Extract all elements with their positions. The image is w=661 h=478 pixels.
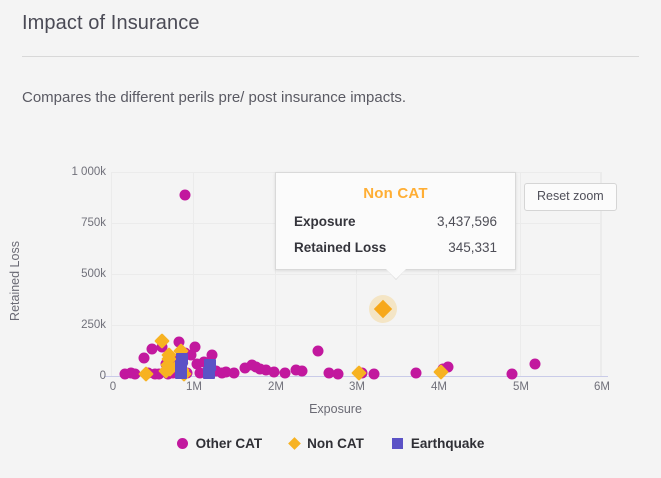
data-point-other-cat[interactable] xyxy=(179,190,190,201)
card-subtitle: Compares the different perils pre/ post … xyxy=(22,86,452,110)
x-axis-title-text: Exposure xyxy=(309,402,362,416)
chart-legend: Other CAT Non CAT Earthquake xyxy=(0,436,661,451)
point-tooltip: Non CAT Exposure 3,437,596 Retained Loss… xyxy=(275,172,516,270)
legend-label: Earthquake xyxy=(411,436,485,451)
x-tick-label: 1M xyxy=(186,381,202,393)
x-tick-label: 0 xyxy=(110,381,116,393)
diamond-marker-icon xyxy=(288,437,301,450)
y-axis-ticks: 1 000k 750k 500k 250k 0 xyxy=(30,150,106,410)
tooltip-title: Non CAT xyxy=(294,185,497,202)
tooltip-value: 3,437,596 xyxy=(437,214,497,229)
tooltip-row: Exposure 3,437,596 xyxy=(294,214,497,229)
tooltip-value: 345,331 xyxy=(448,240,497,255)
y-tick-label: 1 000k xyxy=(38,166,106,178)
tooltip-row: Retained Loss 345,331 xyxy=(294,240,497,255)
x-axis-title: Exposure xyxy=(0,402,661,416)
tooltip-key: Retained Loss xyxy=(294,240,386,255)
legend-item-non-cat[interactable]: Non CAT xyxy=(290,436,364,451)
x-tick-label: 6M xyxy=(594,381,610,393)
data-point-other-cat[interactable] xyxy=(139,352,150,363)
legend-item-earthquake[interactable]: Earthquake xyxy=(392,436,485,451)
x-tick-label: 2M xyxy=(268,381,284,393)
y-tick-label: 500k xyxy=(38,268,106,280)
legend-label: Other CAT xyxy=(196,436,263,451)
square-marker-icon xyxy=(392,438,403,449)
y-axis-title: Retained Loss xyxy=(8,241,22,321)
x-tick-label: 4M xyxy=(431,381,447,393)
circle-marker-icon xyxy=(177,438,188,449)
data-point-other-cat[interactable] xyxy=(332,368,343,379)
y-tick-label: 750k xyxy=(38,217,106,229)
y-tick-label: 250k xyxy=(38,319,106,331)
data-point-other-cat[interactable] xyxy=(268,367,279,378)
y-tick-label: 0 xyxy=(38,370,106,382)
x-tick-label: 5M xyxy=(513,381,529,393)
title-divider xyxy=(22,56,639,57)
legend-item-other-cat[interactable]: Other CAT xyxy=(177,436,263,451)
page-title: Impact of Insurance xyxy=(22,12,200,35)
data-point-earthquake[interactable] xyxy=(204,359,216,371)
data-point-other-cat[interactable] xyxy=(529,358,540,369)
data-point-other-cat[interactable] xyxy=(279,368,290,379)
data-point-other-cat[interactable] xyxy=(313,345,324,356)
data-point-other-cat[interactable] xyxy=(369,368,380,379)
data-point-other-cat[interactable] xyxy=(189,341,200,352)
data-point-other-cat[interactable] xyxy=(229,368,240,379)
data-point-other-cat[interactable] xyxy=(507,369,518,380)
legend-label: Non CAT xyxy=(307,436,364,451)
data-point-other-cat[interactable] xyxy=(297,365,308,376)
insurance-impact-card: Impact of Insurance Compares the differe… xyxy=(0,0,661,478)
reset-zoom-button[interactable]: Reset zoom xyxy=(524,183,617,211)
data-point-earthquake[interactable] xyxy=(176,353,188,365)
tooltip-key: Exposure xyxy=(294,214,356,229)
x-tick-label: 3M xyxy=(349,381,365,393)
data-point-other-cat[interactable] xyxy=(411,368,422,379)
